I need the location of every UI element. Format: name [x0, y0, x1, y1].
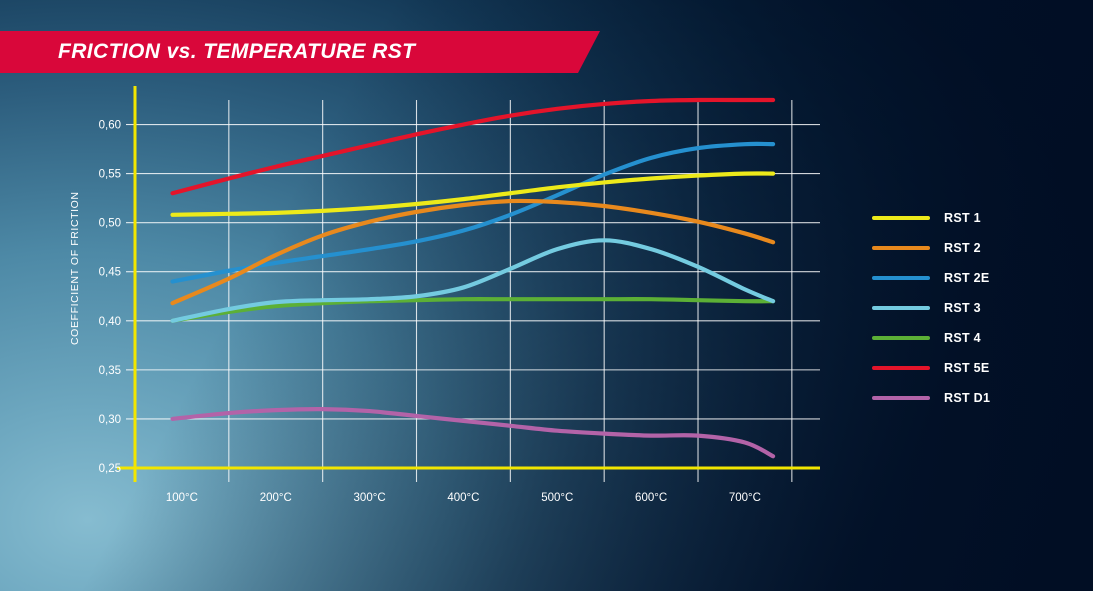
y-tick-label: 0,25: [99, 463, 121, 475]
legend-color-swatch: [872, 216, 930, 220]
legend-color-swatch: [872, 366, 930, 370]
legend-item-label: RST 1: [944, 211, 981, 225]
x-tick-label: 700°C: [729, 492, 761, 504]
legend-item-label: RST D1: [944, 391, 990, 405]
x-tick-label: 400°C: [447, 492, 479, 504]
x-tick-label: 600°C: [635, 492, 667, 504]
y-axis-title: COEFFICIENT OF FRICTION: [69, 191, 81, 345]
grid-layer: [126, 100, 820, 482]
legend-color-swatch: [872, 246, 930, 250]
legend-item-label: RST 4: [944, 331, 981, 345]
y-tick-label: 0,50: [99, 218, 121, 230]
legend-color-swatch: [872, 396, 930, 400]
y-tick-label: 0,45: [99, 267, 121, 279]
series-line-rst-2: [173, 201, 774, 303]
y-tick-label: 0,35: [99, 365, 121, 377]
chart-page: FRICTION vs. TEMPERATURE RST 0,250,300,3…: [0, 0, 1093, 591]
legend-item-label: RST 2: [944, 241, 981, 255]
x-tick-label: 200°C: [260, 492, 292, 504]
legend-color-swatch: [872, 336, 930, 340]
series-line-rst-1: [173, 173, 774, 214]
legend-item-rst-d1[interactable]: RST D1: [872, 383, 1062, 413]
legend-item-label: RST 2E: [944, 271, 990, 285]
legend-item-rst-1[interactable]: RST 1: [872, 203, 1062, 233]
axis-title-layer: COEFFICIENT OF FRICTION: [69, 191, 81, 345]
legend-item-rst-2e[interactable]: RST 2E: [872, 263, 1062, 293]
legend-item-rst-2[interactable]: RST 2: [872, 233, 1062, 263]
series-line-rst-d1: [173, 409, 774, 456]
y-tick-label: 0,60: [99, 120, 121, 132]
series-line-rst-5e: [173, 100, 774, 193]
y-tick-label: 0,40: [99, 316, 121, 328]
legend-item-label: RST 3: [944, 301, 981, 315]
title-banner: FRICTION vs. TEMPERATURE RST: [0, 31, 600, 73]
legend-item-rst-3[interactable]: RST 3: [872, 293, 1062, 323]
chart-legend: RST 1RST 2RST 2ERST 3RST 4RST 5ERST D1: [872, 203, 1062, 413]
x-tick-label: 300°C: [354, 492, 386, 504]
series-layer: [173, 100, 774, 456]
y-tick-label: 0,55: [99, 169, 121, 181]
legend-item-rst-4[interactable]: RST 4: [872, 323, 1062, 353]
y-tick-label: 0,30: [99, 414, 121, 426]
page-title: FRICTION vs. TEMPERATURE RST: [58, 31, 415, 73]
legend-color-swatch: [872, 306, 930, 310]
x-tick-label: 100°C: [166, 492, 198, 504]
legend-item-rst-5e[interactable]: RST 5E: [872, 353, 1062, 383]
legend-item-label: RST 5E: [944, 361, 990, 375]
x-tick-label: 500°C: [541, 492, 573, 504]
legend-color-swatch: [872, 276, 930, 280]
